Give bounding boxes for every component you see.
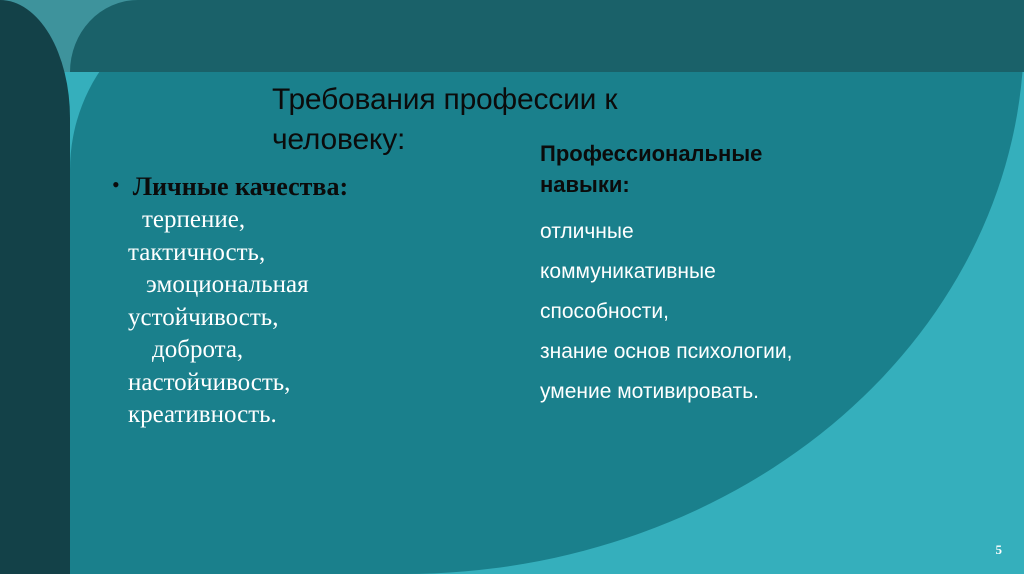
list-item: настойчивость,	[112, 367, 442, 400]
list-item: коммуникативные	[540, 252, 940, 292]
list-item: устойчивость,	[112, 302, 442, 335]
right-content-column: Профессиональные навыки: отличные коммун…	[540, 138, 940, 412]
list-item: терпение,	[112, 204, 442, 237]
list-item: умение мотивировать.	[540, 372, 940, 412]
left-column-list: терпение, тактичность, эмоциональная уст…	[112, 204, 442, 432]
slide-canvas: Требования профессии к человеку: • Личны…	[0, 0, 1024, 574]
list-item: креативность.	[112, 399, 442, 432]
list-item: способности,	[540, 292, 940, 332]
right-column-heading: Профессиональные навыки:	[540, 138, 840, 200]
decor-left-sidebar-bar	[0, 0, 70, 574]
left-bullet-row: • Личные качества:	[112, 172, 442, 202]
right-column-list: отличные коммуникативные способности, зн…	[540, 212, 940, 411]
list-item: отличные	[540, 212, 940, 252]
left-column-heading: Личные качества:	[133, 172, 348, 202]
list-item: эмоциональная	[112, 269, 442, 302]
page-number: 5	[996, 542, 1003, 558]
decor-header-band	[70, 0, 1024, 72]
list-item: знание основ психологии,	[540, 332, 940, 372]
list-item: тактичность,	[112, 237, 442, 270]
bullet-dot-icon: •	[112, 174, 120, 196]
left-content-column: • Личные качества: терпение, тактичность…	[112, 172, 442, 432]
list-item: доброта,	[112, 334, 442, 367]
